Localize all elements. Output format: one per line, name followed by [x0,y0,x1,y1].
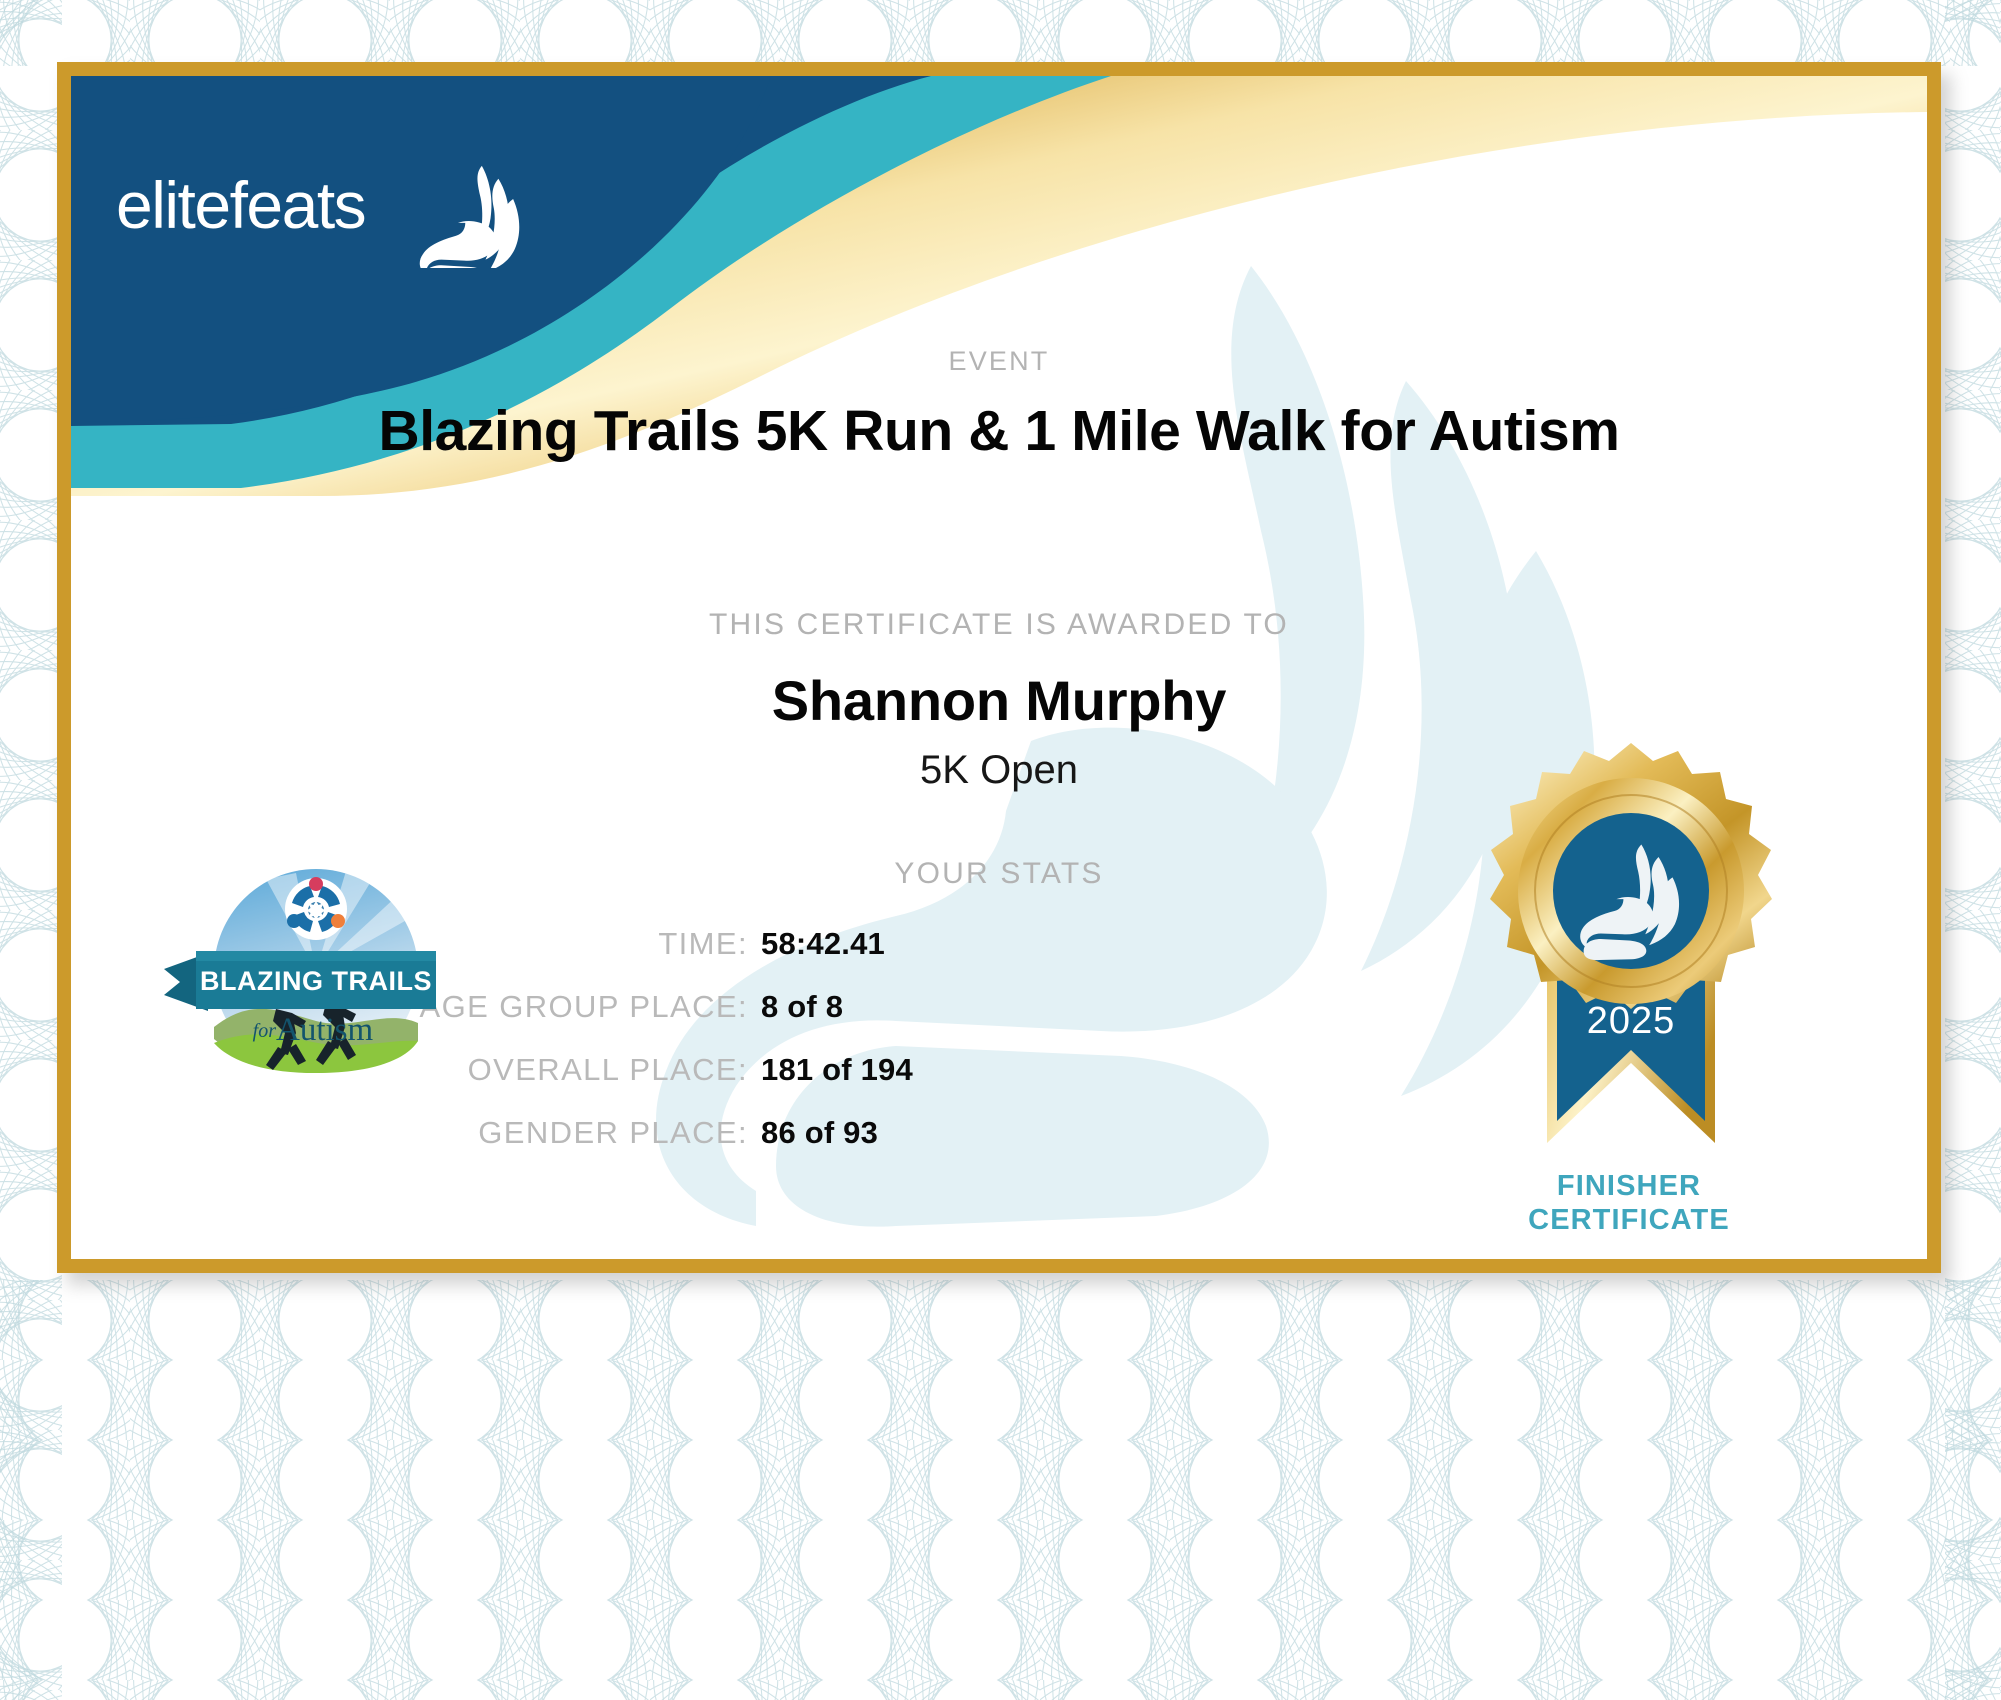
certificate-frame: elitefeats EVENT Blazing Trails 5K Run &… [57,62,1941,1273]
awarded-to-label: THIS CERTIFICATE IS AWARDED TO [71,608,1927,642]
certificate-page: elitefeats EVENT Blazing Trails 5K Run &… [0,0,2001,1700]
finisher-line-2: CERTIFICATE [1449,1203,1809,1237]
stat-label-gender-place: GENDER PLACE: [478,1115,748,1151]
stat-row: TIME: 58:42.41 [371,926,1031,989]
badge-title: BLAZING TRAILS [200,966,432,996]
stat-row: OVERALL PLACE: 181 of 194 [371,1052,1031,1115]
badge-subtitle-small: for [253,1020,277,1042]
recipient-name: Shannon Murphy [71,668,1927,733]
stat-row: GENDER PLACE: 86 of 93 [371,1115,1031,1178]
finisher-line-1: FINISHER [1449,1169,1809,1203]
stat-label-time: TIME: [658,926,748,962]
finisher-certificate-caption: FINISHER CERTIFICATE [1449,1169,1809,1237]
stat-value-time: 58:42.41 [761,926,1031,962]
stat-label-age-group-place: AGE GROUP PLACE: [420,989,748,1025]
stat-row: AGE GROUP PLACE: 8 of 8 [371,989,1031,1052]
stats-table: TIME: 58:42.41 AGE GROUP PLACE: 8 of 8 O… [371,926,1031,1178]
event-label: EVENT [71,346,1927,377]
stat-label-overall-place: OVERALL PLACE: [468,1052,748,1088]
stat-value-overall-place: 181 of 194 [761,1052,1031,1088]
event-title: Blazing Trails 5K Run & 1 Mile Walk for … [71,398,1927,464]
stat-value-gender-place: 86 of 93 [761,1115,1031,1151]
stat-value-age-group-place: 8 of 8 [761,989,1031,1025]
badge-subtitle-main: Autism [276,1012,374,1048]
finisher-medal-seal: 2025 [1461,741,1801,1191]
blazing-trails-event-logo: BLAZING TRAILS for Autism [146,851,456,1091]
